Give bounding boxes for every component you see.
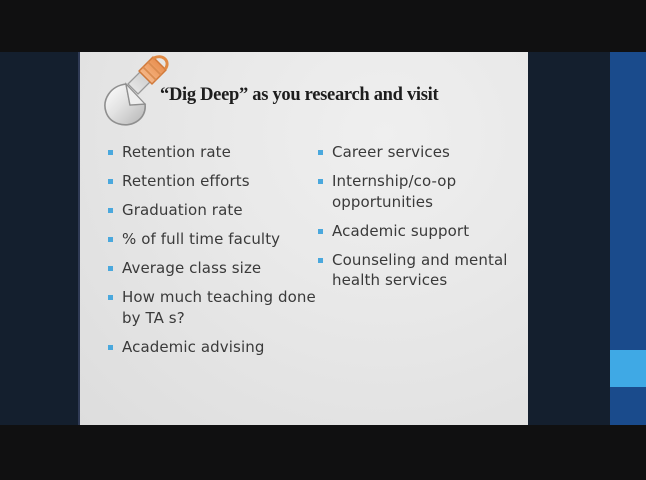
shovel-icon [96, 54, 170, 132]
bullet-marker-icon [318, 179, 323, 184]
bullet-item: Retention rate [108, 142, 323, 163]
bullet-item: Academic support [318, 221, 518, 242]
bullet-label: Career services [332, 142, 450, 163]
bullet-marker-icon [108, 179, 113, 184]
bullet-marker-icon [108, 295, 113, 300]
bullet-label: Academic advising [122, 337, 264, 358]
bullet-label: Counseling and mental health services [332, 250, 518, 291]
slide-stage: “Dig Deep” as you research and visit Ret… [0, 52, 646, 425]
bullet-item: How much teaching done by TA s? [108, 287, 323, 328]
bullet-marker-icon [108, 237, 113, 242]
bullet-label: Retention efforts [122, 171, 250, 192]
bullet-label: % of full time faculty [122, 229, 280, 250]
bullet-column-right: Career services Internship/co-op opportu… [318, 142, 518, 299]
letterbox-bottom-bar [0, 425, 646, 480]
bullet-label: Academic support [332, 221, 469, 242]
bullet-label: Average class size [122, 258, 261, 279]
bullet-column-left: Retention rate Retention efforts Graduat… [108, 142, 323, 366]
slide-content-panel: “Dig Deep” as you research and visit Ret… [78, 52, 528, 425]
bullet-item: Counseling and mental health services [318, 250, 518, 291]
bullet-marker-icon [108, 150, 113, 155]
bullet-marker-icon [318, 229, 323, 234]
bullet-item: Academic advising [108, 337, 323, 358]
accent-square [610, 350, 646, 387]
bullet-marker-icon [108, 266, 113, 271]
bullet-marker-icon [108, 345, 113, 350]
bullet-item: Internship/co-op opportunities [318, 171, 518, 212]
video-slide-viewer: “Dig Deep” as you research and visit Ret… [0, 0, 646, 480]
bullet-item: Career services [318, 142, 518, 163]
letterbox-top-bar [0, 0, 646, 52]
bullet-marker-icon [108, 208, 113, 213]
bullet-marker-icon [318, 258, 323, 263]
bullet-label: How much teaching done by TA s? [122, 287, 323, 328]
bullet-label: Graduation rate [122, 200, 243, 221]
bullet-marker-icon [318, 150, 323, 155]
bullet-item: Graduation rate [108, 200, 323, 221]
bullet-label: Retention rate [122, 142, 231, 163]
bullet-item: % of full time faculty [108, 229, 323, 250]
bullet-label: Internship/co-op opportunities [332, 171, 518, 212]
bullet-item: Retention efforts [108, 171, 323, 192]
bullet-item: Average class size [108, 258, 323, 279]
slide-title: “Dig Deep” as you research and visit [160, 84, 520, 106]
